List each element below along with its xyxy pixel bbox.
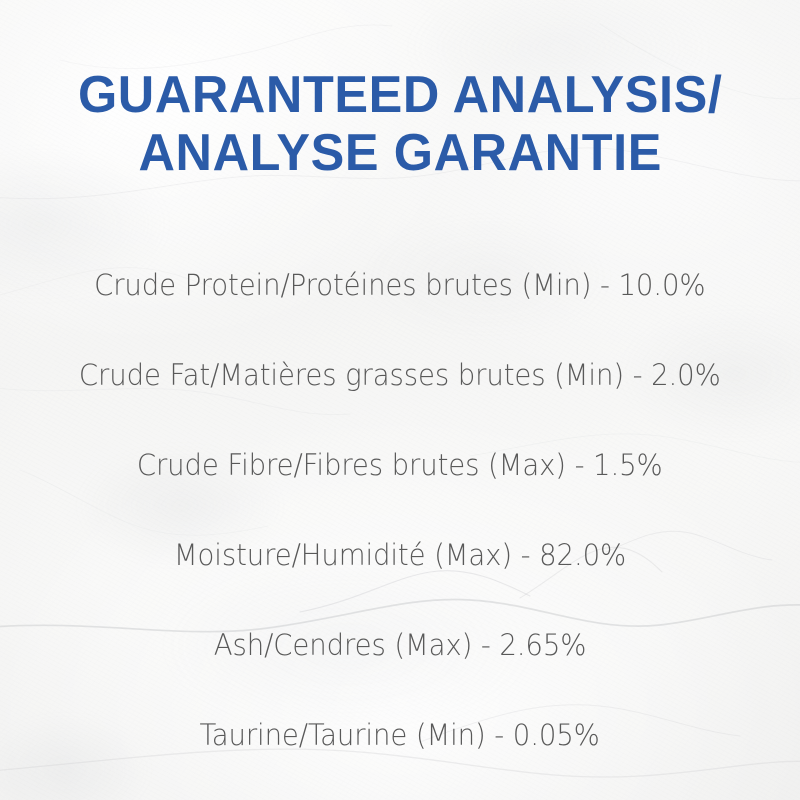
analysis-row-crude-protein: Crude Protein/Protéines brutes (Min) - 1… bbox=[94, 268, 705, 302]
list-item: Taurine/Taurine (Min) - 0.05% bbox=[24, 690, 776, 780]
list-item: Crude Protein/Protéines brutes (Min) - 1… bbox=[24, 240, 776, 330]
analysis-row-taurine: Taurine/Taurine (Min) - 0.05% bbox=[200, 718, 600, 752]
list-item: Crude Fat/Matières grasses brutes (Min) … bbox=[24, 330, 776, 420]
list-item: Crude Fibre/Fibres brutes (Max) - 1.5% bbox=[24, 420, 776, 510]
analysis-list: Crude Protein/Protéines brutes (Min) - 1… bbox=[24, 240, 776, 780]
list-item: Moisture/Humidité (Max) - 82.0% bbox=[24, 510, 776, 600]
panel-content: GUARANTEED ANALYSIS/ ANALYSE GARANTIE Cr… bbox=[0, 0, 800, 800]
analysis-row-moisture: Moisture/Humidité (Max) - 82.0% bbox=[174, 538, 626, 572]
analysis-row-crude-fibre: Crude Fibre/Fibres brutes (Max) - 1.5% bbox=[137, 448, 663, 482]
page-title-line-en: GUARANTEED ANALYSIS/ bbox=[78, 66, 723, 124]
analysis-row-ash: Ash/Cendres (Max) - 2.65% bbox=[214, 628, 587, 662]
list-item: Ash/Cendres (Max) - 2.65% bbox=[24, 600, 776, 690]
guaranteed-analysis-panel: GUARANTEED ANALYSIS/ ANALYSE GARANTIE Cr… bbox=[0, 0, 800, 800]
page-title: GUARANTEED ANALYSIS/ ANALYSE GARANTIE bbox=[68, 66, 733, 182]
page-title-line-fr: ANALYSE GARANTIE bbox=[78, 124, 723, 182]
analysis-row-crude-fat: Crude Fat/Matières grasses brutes (Min) … bbox=[79, 358, 721, 392]
